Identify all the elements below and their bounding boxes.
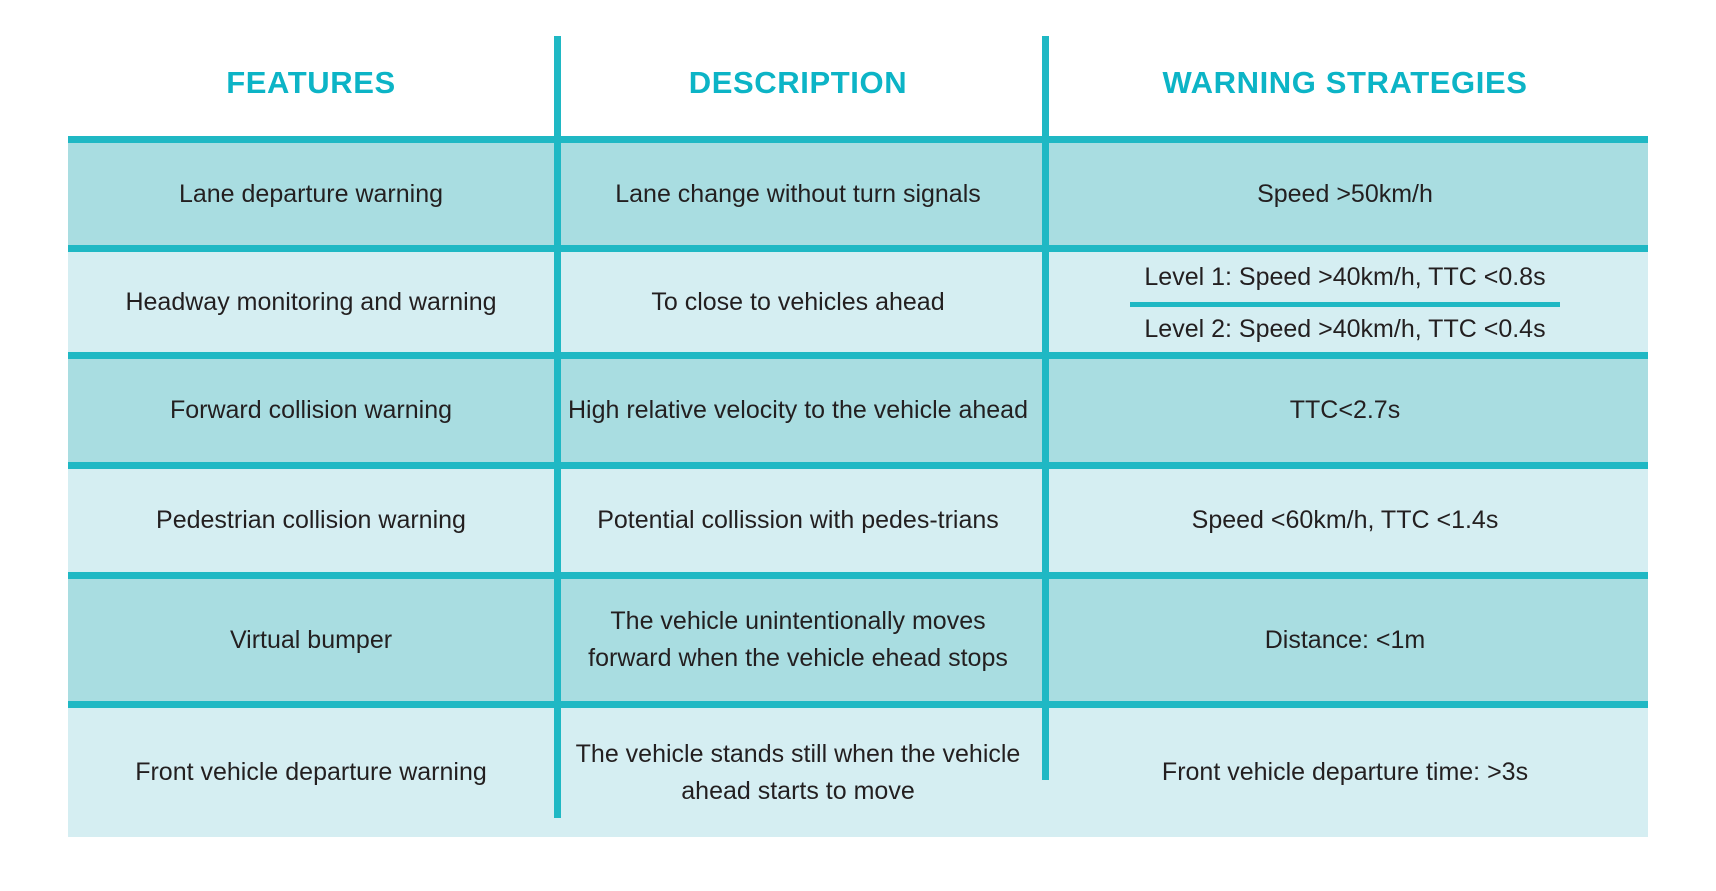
column-separator-2: [1042, 36, 1049, 780]
column-header-features-label: FEATURES: [226, 65, 396, 101]
cell-warning-strategy-split: Level 1: Speed >40km/h, TTC <0.8s Level …: [1042, 252, 1648, 352]
table-header-row: FEATURES DESCRIPTION WARNING STRATEGIES: [68, 30, 1648, 136]
table-row: Headway monitoring and warning To close …: [68, 245, 1648, 352]
table-row: Lane departure warning Lane change witho…: [68, 136, 1648, 245]
cell-description: To close to vehicles ahead: [554, 252, 1042, 352]
cell-feature: Front vehicle departure warning: [68, 708, 554, 837]
table-row: Virtual bumper The vehicle unintentional…: [68, 572, 1648, 701]
cell-feature: Pedestrian collision warning: [68, 469, 554, 572]
cell-description: Potential collission with pedes-trians: [554, 469, 1042, 572]
cell-feature: Lane departure warning: [68, 143, 554, 245]
cell-warning-strategy: Front vehicle departure time: >3s: [1042, 708, 1648, 837]
table-row: Pedestrian collision warning Potential c…: [68, 462, 1648, 572]
cell-feature: Headway monitoring and warning: [68, 252, 554, 352]
table-row: Front vehicle departure warning The vehi…: [68, 701, 1648, 837]
cell-warning-strategy: Speed >50km/h: [1042, 143, 1648, 245]
column-header-description-label: DESCRIPTION: [689, 65, 907, 101]
cell-feature: Forward collision warning: [68, 359, 554, 462]
cell-description: High relative velocity to the vehicle ah…: [554, 359, 1042, 462]
cell-description: The vehicle stands still when the vehicl…: [554, 708, 1042, 837]
table-body: Lane departure warning Lane change witho…: [68, 136, 1648, 837]
warning-level-1: Level 1: Speed >40km/h, TTC <0.8s: [1130, 252, 1559, 302]
column-header-warning-strategies: WARNING STRATEGIES: [1042, 30, 1648, 136]
features-warning-strategies-table: FEATURES DESCRIPTION WARNING STRATEGIES …: [68, 30, 1648, 860]
column-header-warning-strategies-label: WARNING STRATEGIES: [1162, 65, 1527, 101]
column-header-description: DESCRIPTION: [554, 30, 1042, 136]
cell-warning-strategy: Speed <60km/h, TTC <1.4s: [1042, 469, 1648, 572]
cell-feature: Virtual bumper: [68, 579, 554, 701]
cell-warning-strategy: Distance: <1m: [1042, 579, 1648, 701]
cell-description: The vehicle unintentionally moves forwar…: [554, 579, 1042, 701]
comparison-table-page: FEATURES DESCRIPTION WARNING STRATEGIES …: [0, 0, 1716, 891]
column-separator-1: [554, 36, 561, 818]
table-row: Forward collision warning High relative …: [68, 352, 1648, 462]
cell-warning-strategy: TTC<2.7s: [1042, 359, 1648, 462]
warning-level-2: Level 2: Speed >40km/h, TTC <0.4s: [1130, 302, 1559, 352]
column-header-features: FEATURES: [68, 30, 554, 136]
cell-description: Lane change without turn signals: [554, 143, 1042, 245]
